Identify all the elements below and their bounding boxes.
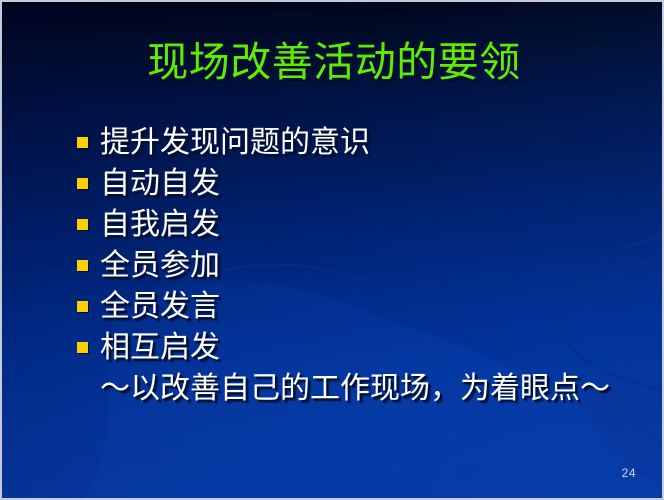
list-item: 提升发现问题的意识: [77, 122, 637, 163]
list-item: 自我启发: [77, 204, 637, 245]
slide-title: 现场改善活动的要领: [2, 36, 664, 88]
square-bullet-icon: [77, 178, 88, 189]
list-item: 全员发言: [77, 286, 637, 327]
page-number: 24: [622, 466, 636, 480]
list-item: 全员参加: [77, 245, 637, 286]
square-bullet-icon: [77, 301, 88, 312]
list-item-label: 全员参加: [100, 249, 220, 283]
closing-statement: ～以改善自己的工作现场，为着眼点～: [100, 371, 610, 407]
square-bullet-icon: [77, 137, 88, 148]
list-item: 自动自发: [77, 163, 637, 204]
list-item-label: 自动自发: [100, 167, 220, 201]
list-item-label: 提升发现问题的意识: [100, 126, 370, 160]
list-item: 相互启发: [77, 327, 637, 368]
list-item-label: 自我启发: [100, 208, 220, 242]
presentation-slide: 现场改善活动的要领 提升发现问题的意识 自动自发 自我启发 全员参加 全员发言 …: [0, 0, 664, 500]
square-bullet-icon: [77, 219, 88, 230]
list-item-label: 相互启发: [100, 331, 220, 365]
bullet-list: 提升发现问题的意识 自动自发 自我启发 全员参加 全员发言 相互启发: [77, 122, 637, 368]
square-bullet-icon: [77, 260, 88, 271]
square-bullet-icon: [77, 342, 88, 353]
list-item-label: 全员发言: [100, 290, 220, 324]
